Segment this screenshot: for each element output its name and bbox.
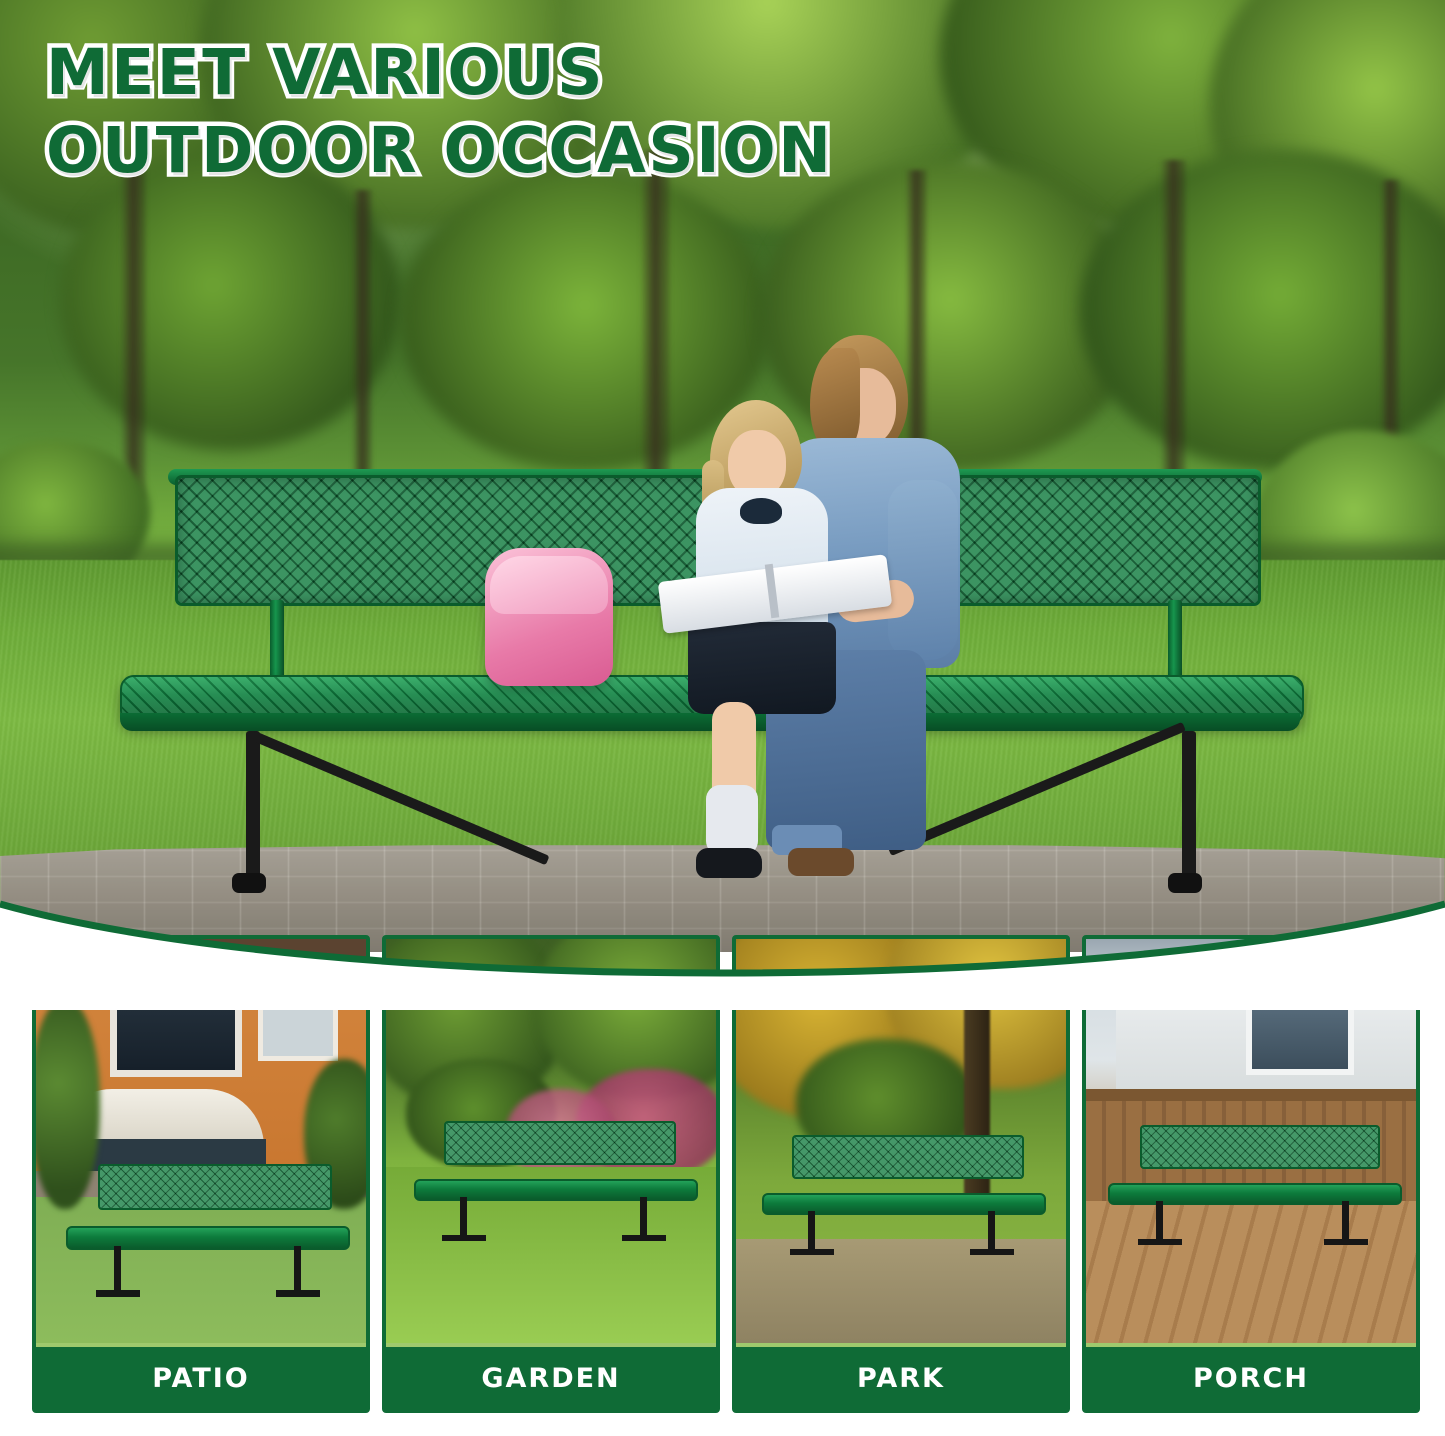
people-group	[640, 330, 970, 930]
tree-canopy	[60, 150, 400, 450]
bench-foot-left	[232, 873, 266, 893]
mini-bench-leg	[294, 1246, 301, 1294]
bench-foot-right	[1168, 873, 1202, 893]
mini-bench-foot	[1138, 1239, 1182, 1245]
mini-bench	[762, 1135, 1042, 1253]
woman-denim-sleeve	[888, 480, 958, 660]
mini-bench-leg	[460, 1197, 467, 1239]
backpack-flap	[490, 556, 608, 614]
mini-bench-leg	[988, 1211, 995, 1253]
tree-trunk	[120, 170, 146, 500]
mini-bench-foot	[622, 1235, 666, 1241]
mini-bench-seat	[66, 1226, 350, 1250]
mini-bench-foot	[790, 1249, 834, 1255]
mini-bench-leg	[1156, 1201, 1163, 1243]
woman-sandal	[788, 848, 854, 876]
occasion-thumbnails: PATIO GARDEN	[0, 935, 1445, 1436]
mini-bench-backrest	[444, 1121, 676, 1165]
mini-bench-seat	[414, 1179, 698, 1201]
mini-bench-backrest	[98, 1164, 332, 1210]
mini-bench-seat	[762, 1193, 1046, 1215]
girl-bow-tie	[740, 498, 782, 524]
section-divider-arc	[0, 900, 1445, 1010]
divider-svg	[0, 900, 1445, 1010]
hero-scene: MEET VARIOUS OUTDOOR OCCASION	[0, 0, 1445, 952]
tree-trunk	[1160, 160, 1186, 500]
thumbnail-caption: PORCH	[1086, 1347, 1416, 1409]
headline-line-1: MEET VARIOUS	[46, 34, 1096, 112]
bench-brace-left	[251, 731, 549, 865]
thumbnail-caption: PARK	[736, 1347, 1066, 1409]
mini-bench-seat	[1108, 1183, 1402, 1205]
girl-skirt	[688, 622, 836, 714]
mini-bench-foot	[96, 1290, 140, 1297]
mini-bench-leg	[640, 1197, 647, 1239]
bench-leg-left-vertical	[246, 731, 260, 879]
product-infographic: MEET VARIOUS OUTDOOR OCCASION	[0, 0, 1445, 1436]
bench-leg-right-vertical	[1182, 731, 1196, 879]
thumbnail-caption: PATIO	[36, 1347, 366, 1409]
mini-bench-backrest	[792, 1135, 1024, 1179]
mini-bench-backrest	[1140, 1125, 1380, 1169]
headline: MEET VARIOUS OUTDOOR OCCASION	[46, 34, 1096, 190]
mini-bench-foot	[970, 1249, 1014, 1255]
mini-bench-foot	[276, 1290, 320, 1297]
headline-line-2: OUTDOOR OCCASION	[46, 112, 1096, 190]
girl-shoe	[696, 848, 762, 878]
thumbnail-caption: GARDEN	[386, 1347, 716, 1409]
mini-bench	[1108, 1125, 1398, 1243]
mini-bench	[66, 1164, 346, 1294]
mini-bench-leg	[1342, 1201, 1349, 1243]
mini-bench-leg	[114, 1246, 121, 1294]
mini-bench-foot	[1324, 1239, 1368, 1245]
mini-bench-leg	[808, 1211, 815, 1253]
mini-bench	[414, 1121, 694, 1239]
mini-bench-foot	[442, 1235, 486, 1241]
girl-sock	[706, 785, 758, 855]
